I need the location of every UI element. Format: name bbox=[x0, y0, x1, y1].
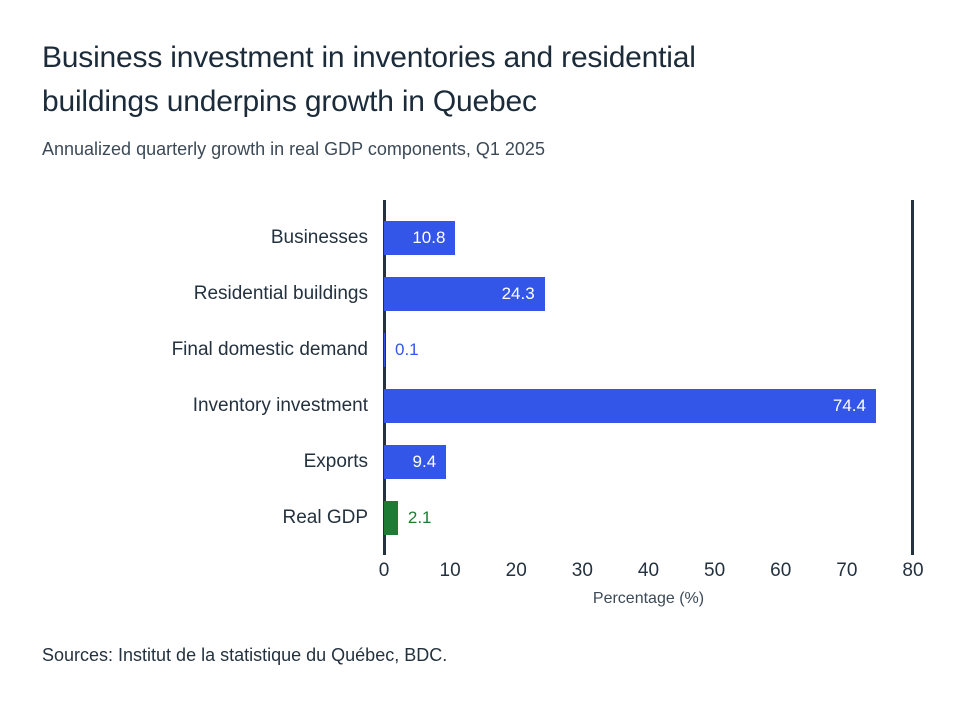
bar-value-label: 0.1 bbox=[395, 333, 419, 367]
x-axis-tick-label: 0 bbox=[379, 560, 390, 582]
bar-chart-plot: Businesses10.8Residential buildings24.3F… bbox=[0, 0, 960, 720]
bar-value-label: 24.3 bbox=[384, 277, 535, 311]
bar-value-label: 2.1 bbox=[408, 501, 432, 535]
bar-row: Inventory investment74.4 bbox=[0, 389, 960, 423]
bar-value-label: 9.4 bbox=[384, 445, 436, 479]
x-axis-title: Percentage (%) bbox=[384, 590, 913, 608]
x-axis-tick-label: 20 bbox=[506, 560, 527, 582]
x-axis-tick-label: 30 bbox=[572, 560, 593, 582]
bar-value-label: 10.8 bbox=[384, 221, 445, 255]
bar[interactable] bbox=[384, 333, 385, 367]
bar-row: Final domestic demand0.1 bbox=[0, 333, 960, 367]
x-axis-tick-label: 40 bbox=[638, 560, 659, 582]
chart-page: Business investment in inventories and r… bbox=[0, 0, 960, 720]
x-axis-tick-label: 60 bbox=[770, 560, 791, 582]
bar-row: Real GDP2.1 bbox=[0, 501, 960, 535]
bar-value-label: 74.4 bbox=[384, 389, 866, 423]
sources-note: Sources: Institut de la statistique du Q… bbox=[42, 645, 447, 666]
bar-row: Residential buildings24.3 bbox=[0, 277, 960, 311]
bar-category-label: Businesses bbox=[271, 221, 368, 255]
bar-category-label: Exports bbox=[304, 445, 368, 479]
x-axis-tick-label: 50 bbox=[704, 560, 725, 582]
bar[interactable] bbox=[384, 501, 398, 535]
x-axis-tick-label: 70 bbox=[836, 560, 857, 582]
x-axis-tick-label: 80 bbox=[902, 560, 923, 582]
bar-category-label: Final domestic demand bbox=[172, 333, 368, 367]
bar-category-label: Real GDP bbox=[282, 501, 368, 535]
bar-row: Exports9.4 bbox=[0, 445, 960, 479]
bar-category-label: Inventory investment bbox=[193, 389, 368, 423]
bar-category-label: Residential buildings bbox=[194, 277, 368, 311]
bar-row: Businesses10.8 bbox=[0, 221, 960, 255]
x-axis-tick-label: 10 bbox=[440, 560, 461, 582]
